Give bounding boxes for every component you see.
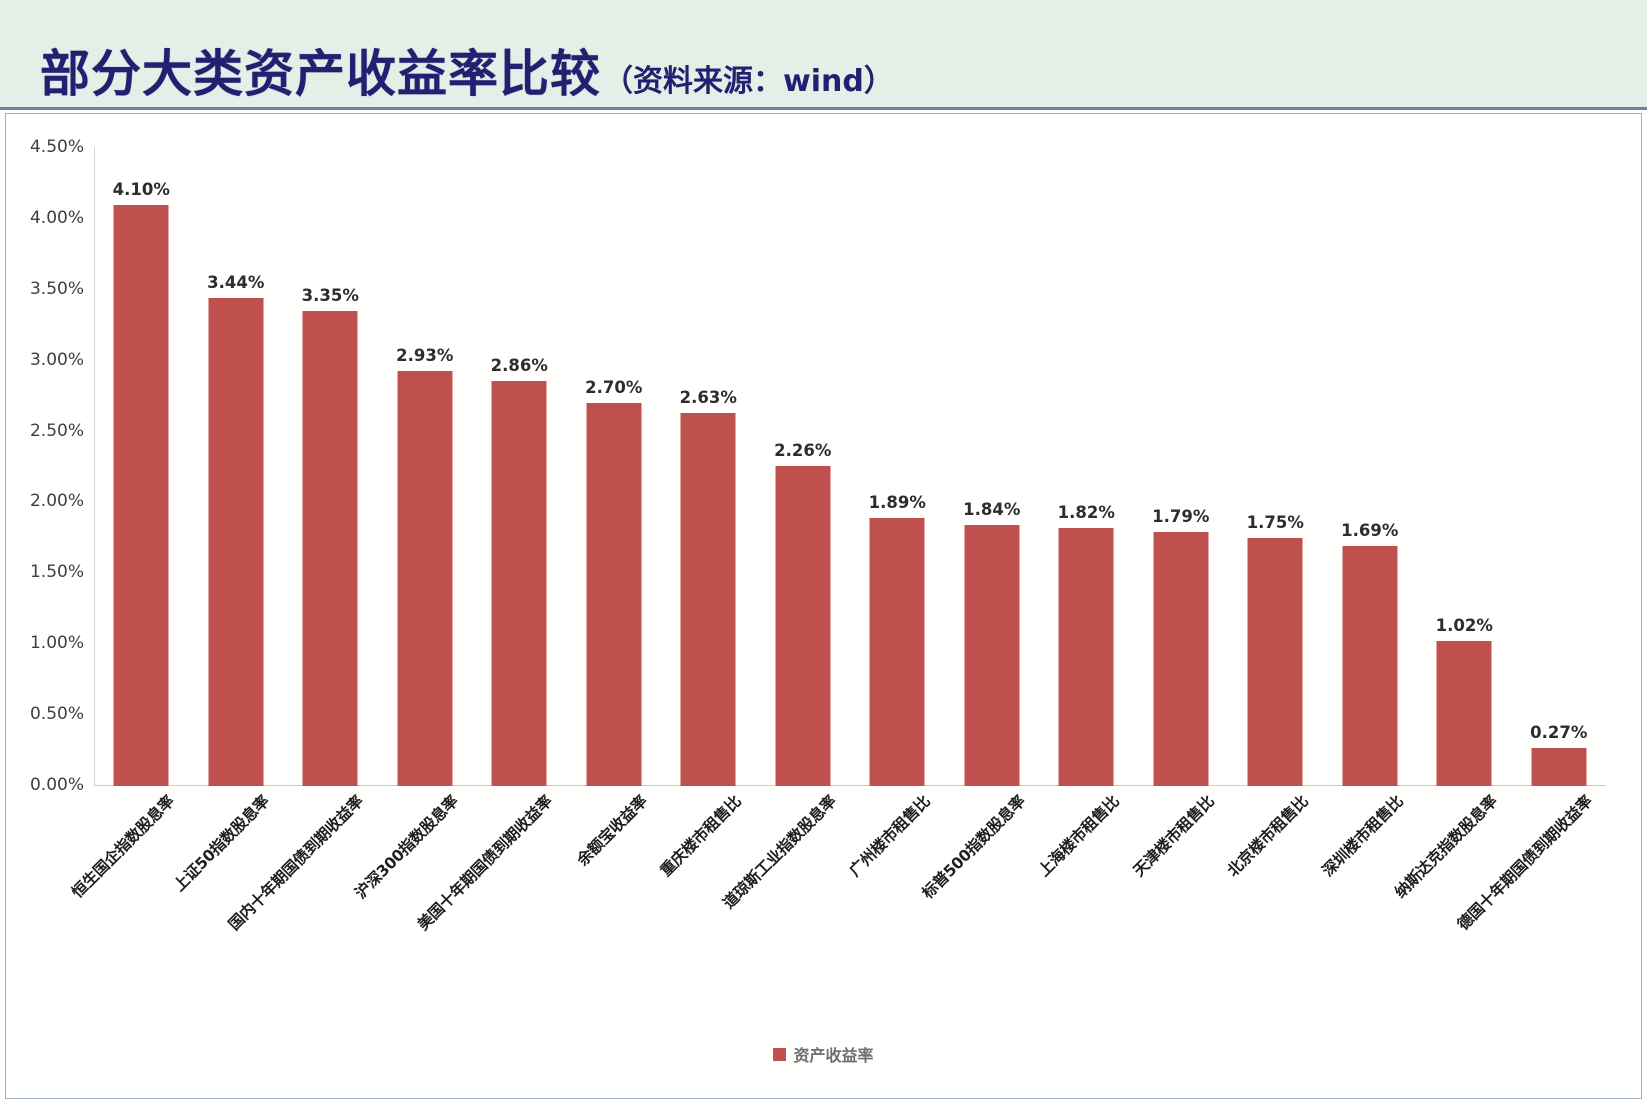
- bar[interactable]: [492, 381, 547, 786]
- bar-slot: 1.89%: [850, 147, 945, 786]
- y-axis-tick: 3.50%: [30, 279, 84, 299]
- bar-slot: 1.84%: [945, 147, 1040, 786]
- y-axis-tick: 0.00%: [30, 775, 84, 795]
- bar-slot: 2.26%: [756, 147, 851, 786]
- y-axis-tick-labels: 4.50%4.00%3.50%3.00%2.50%2.00%1.50%1.00%…: [6, 114, 84, 1098]
- bar-slot: 2.63%: [661, 147, 756, 786]
- y-axis-tick: 4.00%: [30, 208, 84, 228]
- bar-value-label: 1.79%: [1152, 507, 1209, 526]
- y-axis-tick: 4.50%: [30, 137, 84, 157]
- y-axis-tick: 0.50%: [30, 704, 84, 724]
- bar-slot: 4.10%: [94, 147, 189, 786]
- page-subtitle-source: （资料来源：wind）: [603, 67, 894, 97]
- bar-value-label: 1.84%: [963, 500, 1020, 519]
- bar-slot: 1.02%: [1417, 147, 1512, 786]
- bar-slot: 0.27%: [1512, 147, 1607, 786]
- bar[interactable]: [586, 403, 641, 786]
- bar[interactable]: [870, 518, 925, 786]
- bar-value-label: 0.27%: [1530, 723, 1587, 742]
- bar-slot: 2.70%: [567, 147, 662, 786]
- x-axis-category-label: 北京楼市租售比: [1222, 790, 1313, 881]
- x-axis-category-label: 重庆楼市租售比: [655, 790, 746, 881]
- legend-label: 资产收益率: [793, 1042, 873, 1066]
- bar[interactable]: [208, 298, 263, 786]
- bar-slot: 1.82%: [1039, 147, 1134, 786]
- bar-value-label: 3.35%: [302, 286, 359, 305]
- bar-series: 4.10%3.44%3.35%2.93%2.86%2.70%2.63%2.26%…: [94, 147, 1606, 786]
- y-axis-tick: 1.00%: [30, 633, 84, 653]
- bar-value-label: 1.02%: [1436, 616, 1493, 635]
- y-axis-tick: 2.00%: [30, 491, 84, 511]
- x-axis-category-label: 标普500指数股息率: [916, 790, 1029, 903]
- header-title-group: 部分大类资产收益率比较 （资料来源：wind）: [40, 49, 894, 99]
- x-axis-category-label: 上海楼市租售比: [1033, 790, 1124, 881]
- bar-value-label: 2.93%: [396, 346, 453, 365]
- bar[interactable]: [1059, 528, 1114, 786]
- y-axis-tick: 3.00%: [30, 350, 84, 370]
- bar-value-label: 1.82%: [1058, 503, 1115, 522]
- bar[interactable]: [964, 525, 1019, 786]
- bar-value-label: 1.69%: [1341, 521, 1398, 540]
- bar-slot: 3.44%: [189, 147, 284, 786]
- legend-swatch-icon: [773, 1048, 786, 1061]
- bar-slot: 1.75%: [1228, 147, 1323, 786]
- bar-value-label: 2.70%: [585, 378, 642, 397]
- bar[interactable]: [303, 311, 358, 786]
- bar-value-label: 3.44%: [207, 273, 264, 292]
- bar-value-label: 2.26%: [774, 441, 831, 460]
- bar-slot: 2.86%: [472, 147, 567, 786]
- bar[interactable]: [1342, 546, 1397, 786]
- y-axis-tick: 2.50%: [30, 421, 84, 441]
- bar-slot: 2.93%: [378, 147, 473, 786]
- bar-slot: 3.35%: [283, 147, 378, 786]
- chart-legend: 资产收益率: [6, 1042, 1641, 1066]
- x-axis-category-labels: 恒生国企指数股息率上证50指数股息率国内十年期国债到期收益率沪深300指数股息率…: [94, 790, 1606, 1020]
- x-axis-category-label: 上证50指数股息率: [168, 790, 274, 896]
- bar[interactable]: [1248, 538, 1303, 786]
- page-title: 部分大类资产收益率比较: [40, 49, 601, 99]
- bar-value-label: 1.75%: [1247, 513, 1304, 532]
- bar[interactable]: [1531, 748, 1586, 786]
- x-axis-category-label: 深圳楼市租售比: [1317, 790, 1408, 881]
- slide-header-banner: 部分大类资产收益率比较 （资料来源：wind）: [0, 0, 1647, 110]
- bar-value-label: 4.10%: [113, 180, 170, 199]
- bar-slot: 1.69%: [1323, 147, 1418, 786]
- x-axis-category-label: 余额宝收益率: [571, 790, 651, 870]
- bar-value-label: 1.89%: [869, 493, 926, 512]
- bar[interactable]: [397, 371, 452, 786]
- y-axis-tick: 1.50%: [30, 562, 84, 582]
- bar-value-label: 2.86%: [491, 356, 548, 375]
- chart-container: 4.50%4.00%3.50%3.00%2.50%2.00%1.50%1.00%…: [5, 113, 1642, 1099]
- bar[interactable]: [1153, 532, 1208, 786]
- x-axis-category-label: 天津楼市租售比: [1128, 790, 1219, 881]
- bar-slot: 1.79%: [1134, 147, 1229, 786]
- bar[interactable]: [1437, 641, 1492, 786]
- bar-value-label: 2.63%: [680, 388, 737, 407]
- bar[interactable]: [114, 205, 169, 786]
- bar[interactable]: [681, 413, 736, 786]
- slide-page: 部分大类资产收益率比较 （资料来源：wind） 4.50%4.00%3.50%3…: [0, 0, 1647, 1104]
- x-axis-category-label: 广州楼市租售比: [844, 790, 935, 881]
- bar[interactable]: [775, 466, 830, 786]
